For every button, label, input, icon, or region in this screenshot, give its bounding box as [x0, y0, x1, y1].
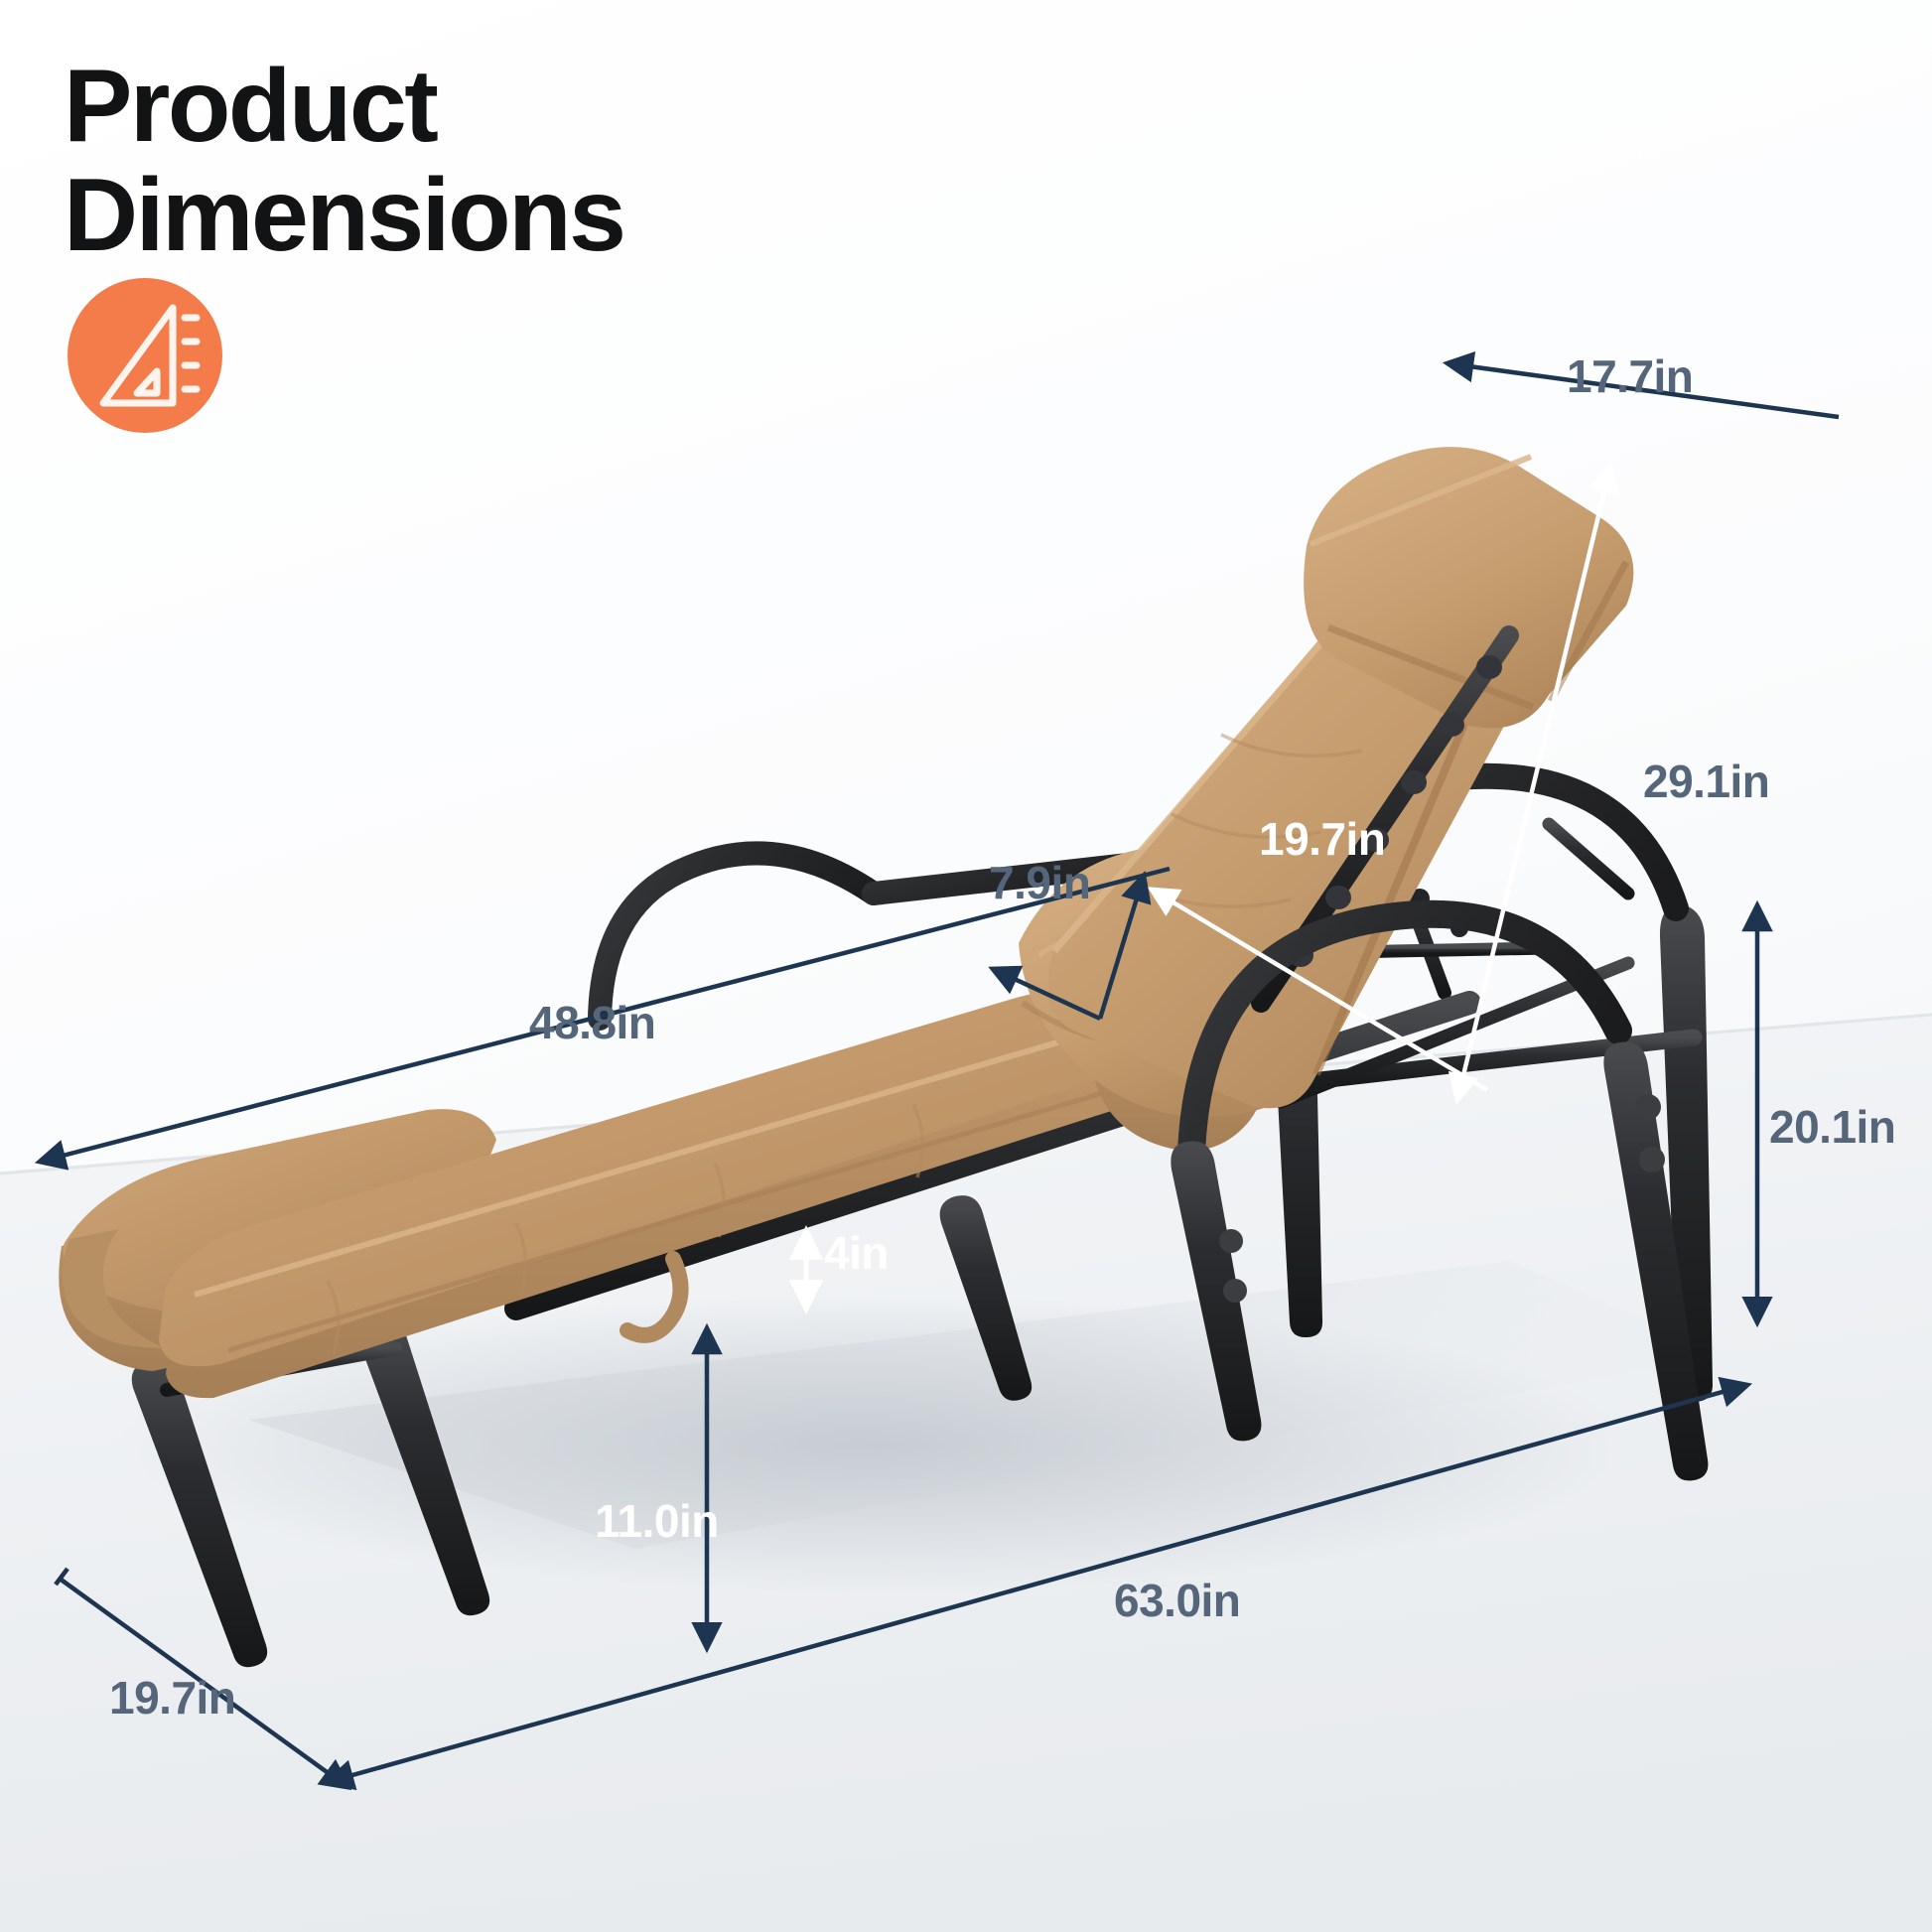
dimension-label-seat-height: 11.0in	[595, 1494, 719, 1548]
title-line-2: Dimensions	[64, 161, 957, 270]
dimline-seat-width	[1152, 890, 1487, 1090]
dimension-label-armrest-height: 7.9in	[989, 856, 1090, 909]
dimension-label-overall-depth: 19.7in	[109, 1671, 235, 1725]
page-title: Product Dimensions	[64, 52, 957, 270]
dimension-label-overall-length: 63.0in	[1114, 1574, 1240, 1627]
dimension-label-back-height: 20.1in	[1769, 1100, 1895, 1154]
dimline-backrest-length	[1457, 467, 1610, 1100]
title-line-1: Product	[64, 52, 957, 161]
badge-circle	[68, 278, 222, 433]
dimension-label-seat-width: 19.7in	[1259, 812, 1385, 866]
dimline-armrest-height-lower	[993, 969, 1100, 1019]
dimension-label-cushion-thickness: 4in	[824, 1226, 889, 1280]
dimline-armrest-height	[1100, 876, 1144, 1019]
dimension-label-backrest-width: 17.7in	[1567, 349, 1693, 403]
infographic-canvas: Product Dimensions 17.7in 29.1in 19.7in …	[0, 0, 1932, 1932]
dimension-label-backrest-length: 29.1in	[1643, 755, 1769, 808]
ruler-triangle-icon	[66, 276, 224, 435]
dimension-annotations	[0, 0, 1932, 1932]
dimension-label-seat-length: 48.8in	[529, 996, 655, 1049]
dimline-overall-length	[328, 1385, 1747, 1782]
